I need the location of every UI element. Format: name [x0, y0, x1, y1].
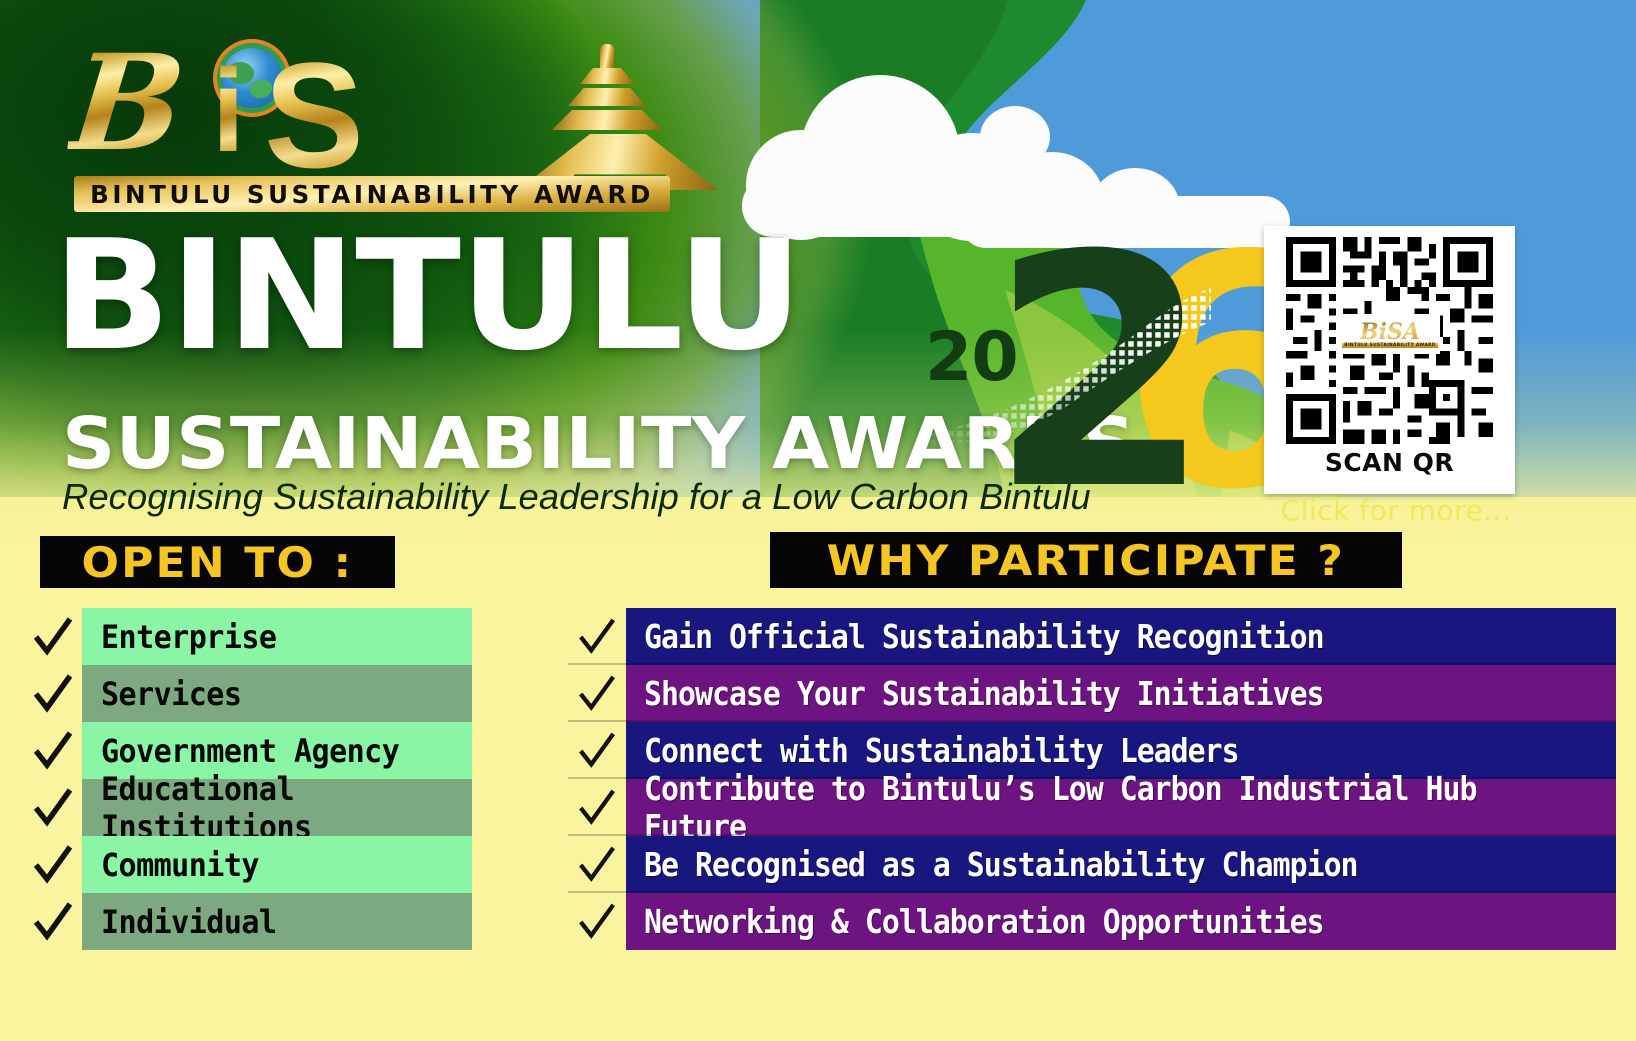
list-item[interactable]: Community — [24, 836, 472, 893]
list-item-label: Showcase Your Sustainability Initiatives — [644, 675, 1324, 713]
list-item[interactable]: Enterprise — [24, 608, 472, 665]
qr-embedded-logo: BiSA BINTULU SUSTAINABILITY AWARD — [1340, 314, 1440, 354]
open-to-list: Enterprise Services Government Agency — [24, 608, 472, 950]
list-item-bar: Showcase Your Sustainability Initiatives — [626, 665, 1616, 722]
check-icon — [24, 608, 82, 665]
check-icon — [568, 665, 626, 722]
section-header-open-to-label: OPEN TO : — [82, 538, 354, 587]
check-icon — [568, 893, 626, 950]
list-item-label: Connect with Sustainability Leaders — [644, 732, 1239, 770]
page-title: BINTULU — [53, 226, 802, 366]
list-item-bar: Contribute to Bintulu’s Low Carbon Indus… — [626, 779, 1616, 836]
list-item[interactable]: Showcase Your Sustainability Initiatives — [568, 665, 1616, 722]
list-item[interactable]: Contribute to Bintulu’s Low Carbon Indus… — [568, 779, 1616, 836]
list-item-bar: Be Recognised as a Sustainability Champi… — [626, 836, 1616, 893]
check-icon — [24, 893, 82, 950]
check-icon — [568, 836, 626, 893]
year-digit-2: 2 — [989, 214, 1212, 534]
list-item-label: Individual — [101, 903, 276, 941]
qr-caption: SCAN QR — [1264, 448, 1515, 477]
list-item-bar: Individual — [82, 893, 472, 950]
list-item-bar: Services — [82, 665, 472, 722]
qr-embedded-logo-subtext: BINTULU SUSTAINABILITY AWARD — [1342, 343, 1437, 348]
check-icon — [568, 779, 626, 836]
list-item[interactable]: Services — [24, 665, 472, 722]
check-icon — [568, 722, 626, 779]
list-item-label: Enterprise — [101, 618, 276, 656]
check-icon — [568, 608, 626, 665]
qr-embedded-logo-text: BiSA — [1360, 321, 1420, 343]
list-item[interactable]: Networking & Collaboration Opportunities — [568, 893, 1616, 950]
logo-letter-i: i — [212, 52, 245, 170]
section-header-why-participate-label: WHY PARTICIPATE ? — [827, 536, 1345, 585]
list-item-label: Government Agency — [101, 732, 399, 770]
list-item-bar: Enterprise — [82, 608, 472, 665]
qr-click-hint[interactable]: Click for more... — [1276, 494, 1516, 527]
logo-banner-text: BINTULU SUSTAINABILITY AWARD — [90, 180, 654, 209]
check-icon — [24, 722, 82, 779]
section-header-why-participate: WHY PARTICIPATE ? — [770, 532, 1402, 588]
bisa-logo-mark: B i S — [72, 20, 672, 180]
check-icon — [24, 779, 82, 836]
list-item-label: Services — [101, 675, 241, 713]
list-item[interactable]: Educational Institutions — [24, 779, 472, 836]
list-item[interactable]: Be Recognised as a Sustainability Champi… — [568, 836, 1616, 893]
why-participate-list: Gain Official Sustainability Recognition… — [568, 608, 1616, 950]
bisa-logo[interactable]: B i S BINTULU SUSTAINABILITY AWARD — [72, 20, 672, 215]
cloud-edge-left — [980, 96, 1070, 166]
list-item[interactable]: Individual — [24, 893, 472, 950]
list-item-label: Be Recognised as a Sustainability Champi… — [644, 846, 1358, 884]
logo-letter-s: S — [264, 40, 364, 190]
list-item-label: Networking & Collaboration Opportunities — [644, 903, 1324, 941]
poster-canvas: B i S BINTULU SUSTAINABILITY AWARD BINTU… — [0, 0, 1636, 1041]
list-item-bar: Educational Institutions — [82, 779, 472, 836]
logo-letter-b: B — [65, 38, 190, 170]
year-graphic-2026: 6 2 20 — [905, 230, 1235, 520]
pagoda-icon — [512, 42, 727, 192]
qr-card[interactable]: BiSA BINTULU SUSTAINABILITY AWARD SCAN Q… — [1264, 226, 1515, 494]
list-item-label: Educational Institutions — [101, 770, 450, 846]
list-item-label: Community — [101, 846, 259, 884]
check-icon — [24, 665, 82, 722]
list-item-label: Gain Official Sustainability Recognition — [644, 618, 1324, 656]
check-icon — [24, 836, 82, 893]
list-item-bar: Networking & Collaboration Opportunities — [626, 893, 1616, 950]
year-prefix-20: 20 — [925, 318, 1018, 397]
section-header-open-to: OPEN TO : — [40, 536, 395, 588]
list-item[interactable]: Gain Official Sustainability Recognition — [568, 608, 1616, 665]
list-item-bar: Gain Official Sustainability Recognition — [626, 608, 1616, 665]
list-item-bar: Community — [82, 836, 472, 893]
